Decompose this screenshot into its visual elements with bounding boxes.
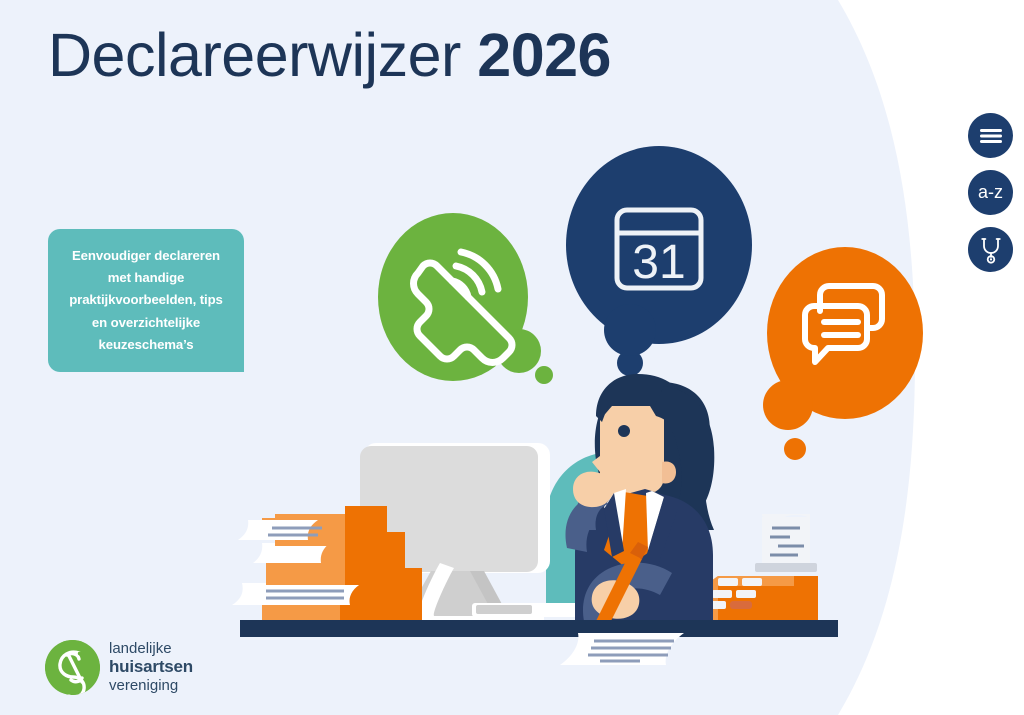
poster-canvas: Declareerwijzer 2026 Eenvoudiger declare… [0,0,1024,715]
logo-line-3: vereniging [109,677,193,695]
caduceus-snake-staff-icon [45,640,100,695]
page-title-light: Declareerwijzer [48,21,461,89]
hamburger-menu-icon [979,128,1003,144]
svg-text:31: 31 [632,236,685,289]
desk-surface [240,620,838,637]
logo-line-2: huisartsen [109,657,193,677]
page-title: Declareerwijzer 2026 [48,22,611,89]
phone-bubble [378,213,541,381]
callout-text: Eenvoudiger declareren met handige prakt… [62,245,230,356]
chat-bubble-dot [784,438,806,460]
a-z-icon: a-z [978,182,1003,203]
calendar-bubble: 31 [566,146,752,356]
sidebar-item-medical-topics[interactable] [968,227,1013,272]
logo-line-1: landelijke [109,640,193,658]
sidebar-item-menu[interactable] [968,113,1013,158]
chat-bubble [763,247,923,430]
side-button-rail: a-z [968,113,1013,272]
desk-paper [560,633,684,665]
logo-wordmark: landelijke huisartsen vereniging [109,640,193,695]
stethoscope-icon [979,236,1003,264]
callout-box: Eenvoudiger declareren met handige prakt… [48,229,244,372]
organization-logo[interactable]: landelijke huisartsen vereniging [45,640,193,695]
page-title-bold: 2026 [477,21,611,89]
person-at-desk [565,374,714,631]
phone-bubble-dot [535,366,553,384]
cash-register [704,514,818,621]
sidebar-item-a-z[interactable]: a-z [968,170,1013,215]
